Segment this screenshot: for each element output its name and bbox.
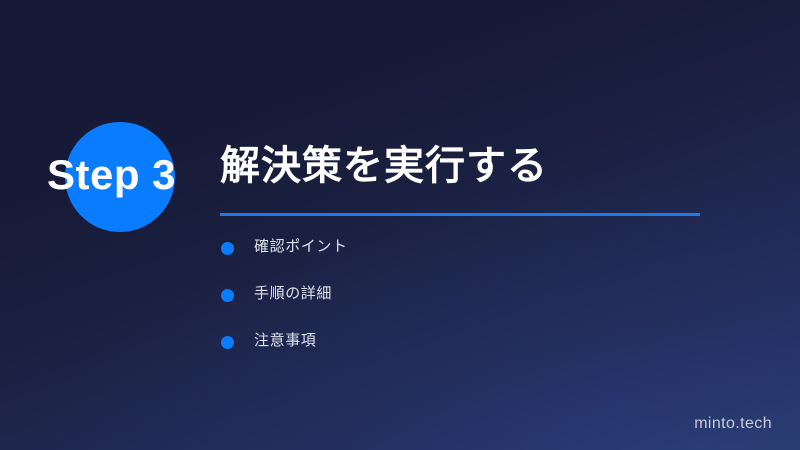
slide-content: Step 3 解決策を実行する 確認ポイント 手順の詳細 注意事項 minto.… bbox=[0, 0, 800, 450]
bullet-dot-icon bbox=[221, 242, 234, 255]
bullet-list: 確認ポイント 手順の詳細 注意事項 bbox=[221, 236, 681, 377]
bullet-dot-icon bbox=[221, 336, 234, 349]
bullet-dot-icon bbox=[221, 289, 234, 302]
list-item: 手順の詳細 bbox=[221, 283, 681, 330]
title-underline-divider bbox=[220, 213, 700, 216]
list-item-label: 手順の詳細 bbox=[254, 283, 332, 306]
list-item-label: 注意事項 bbox=[254, 330, 316, 353]
page-title: 解決策を実行する bbox=[220, 144, 548, 189]
list-item-label: 確認ポイント bbox=[254, 236, 348, 259]
list-item: 確認ポイント bbox=[221, 236, 681, 283]
step-badge-label: Step 3 bbox=[47, 154, 176, 196]
list-item: 注意事項 bbox=[221, 330, 681, 377]
brand-watermark: minto.tech bbox=[694, 416, 772, 432]
slide-canvas: Step 3 解決策を実行する 確認ポイント 手順の詳細 注意事項 minto.… bbox=[0, 0, 800, 450]
